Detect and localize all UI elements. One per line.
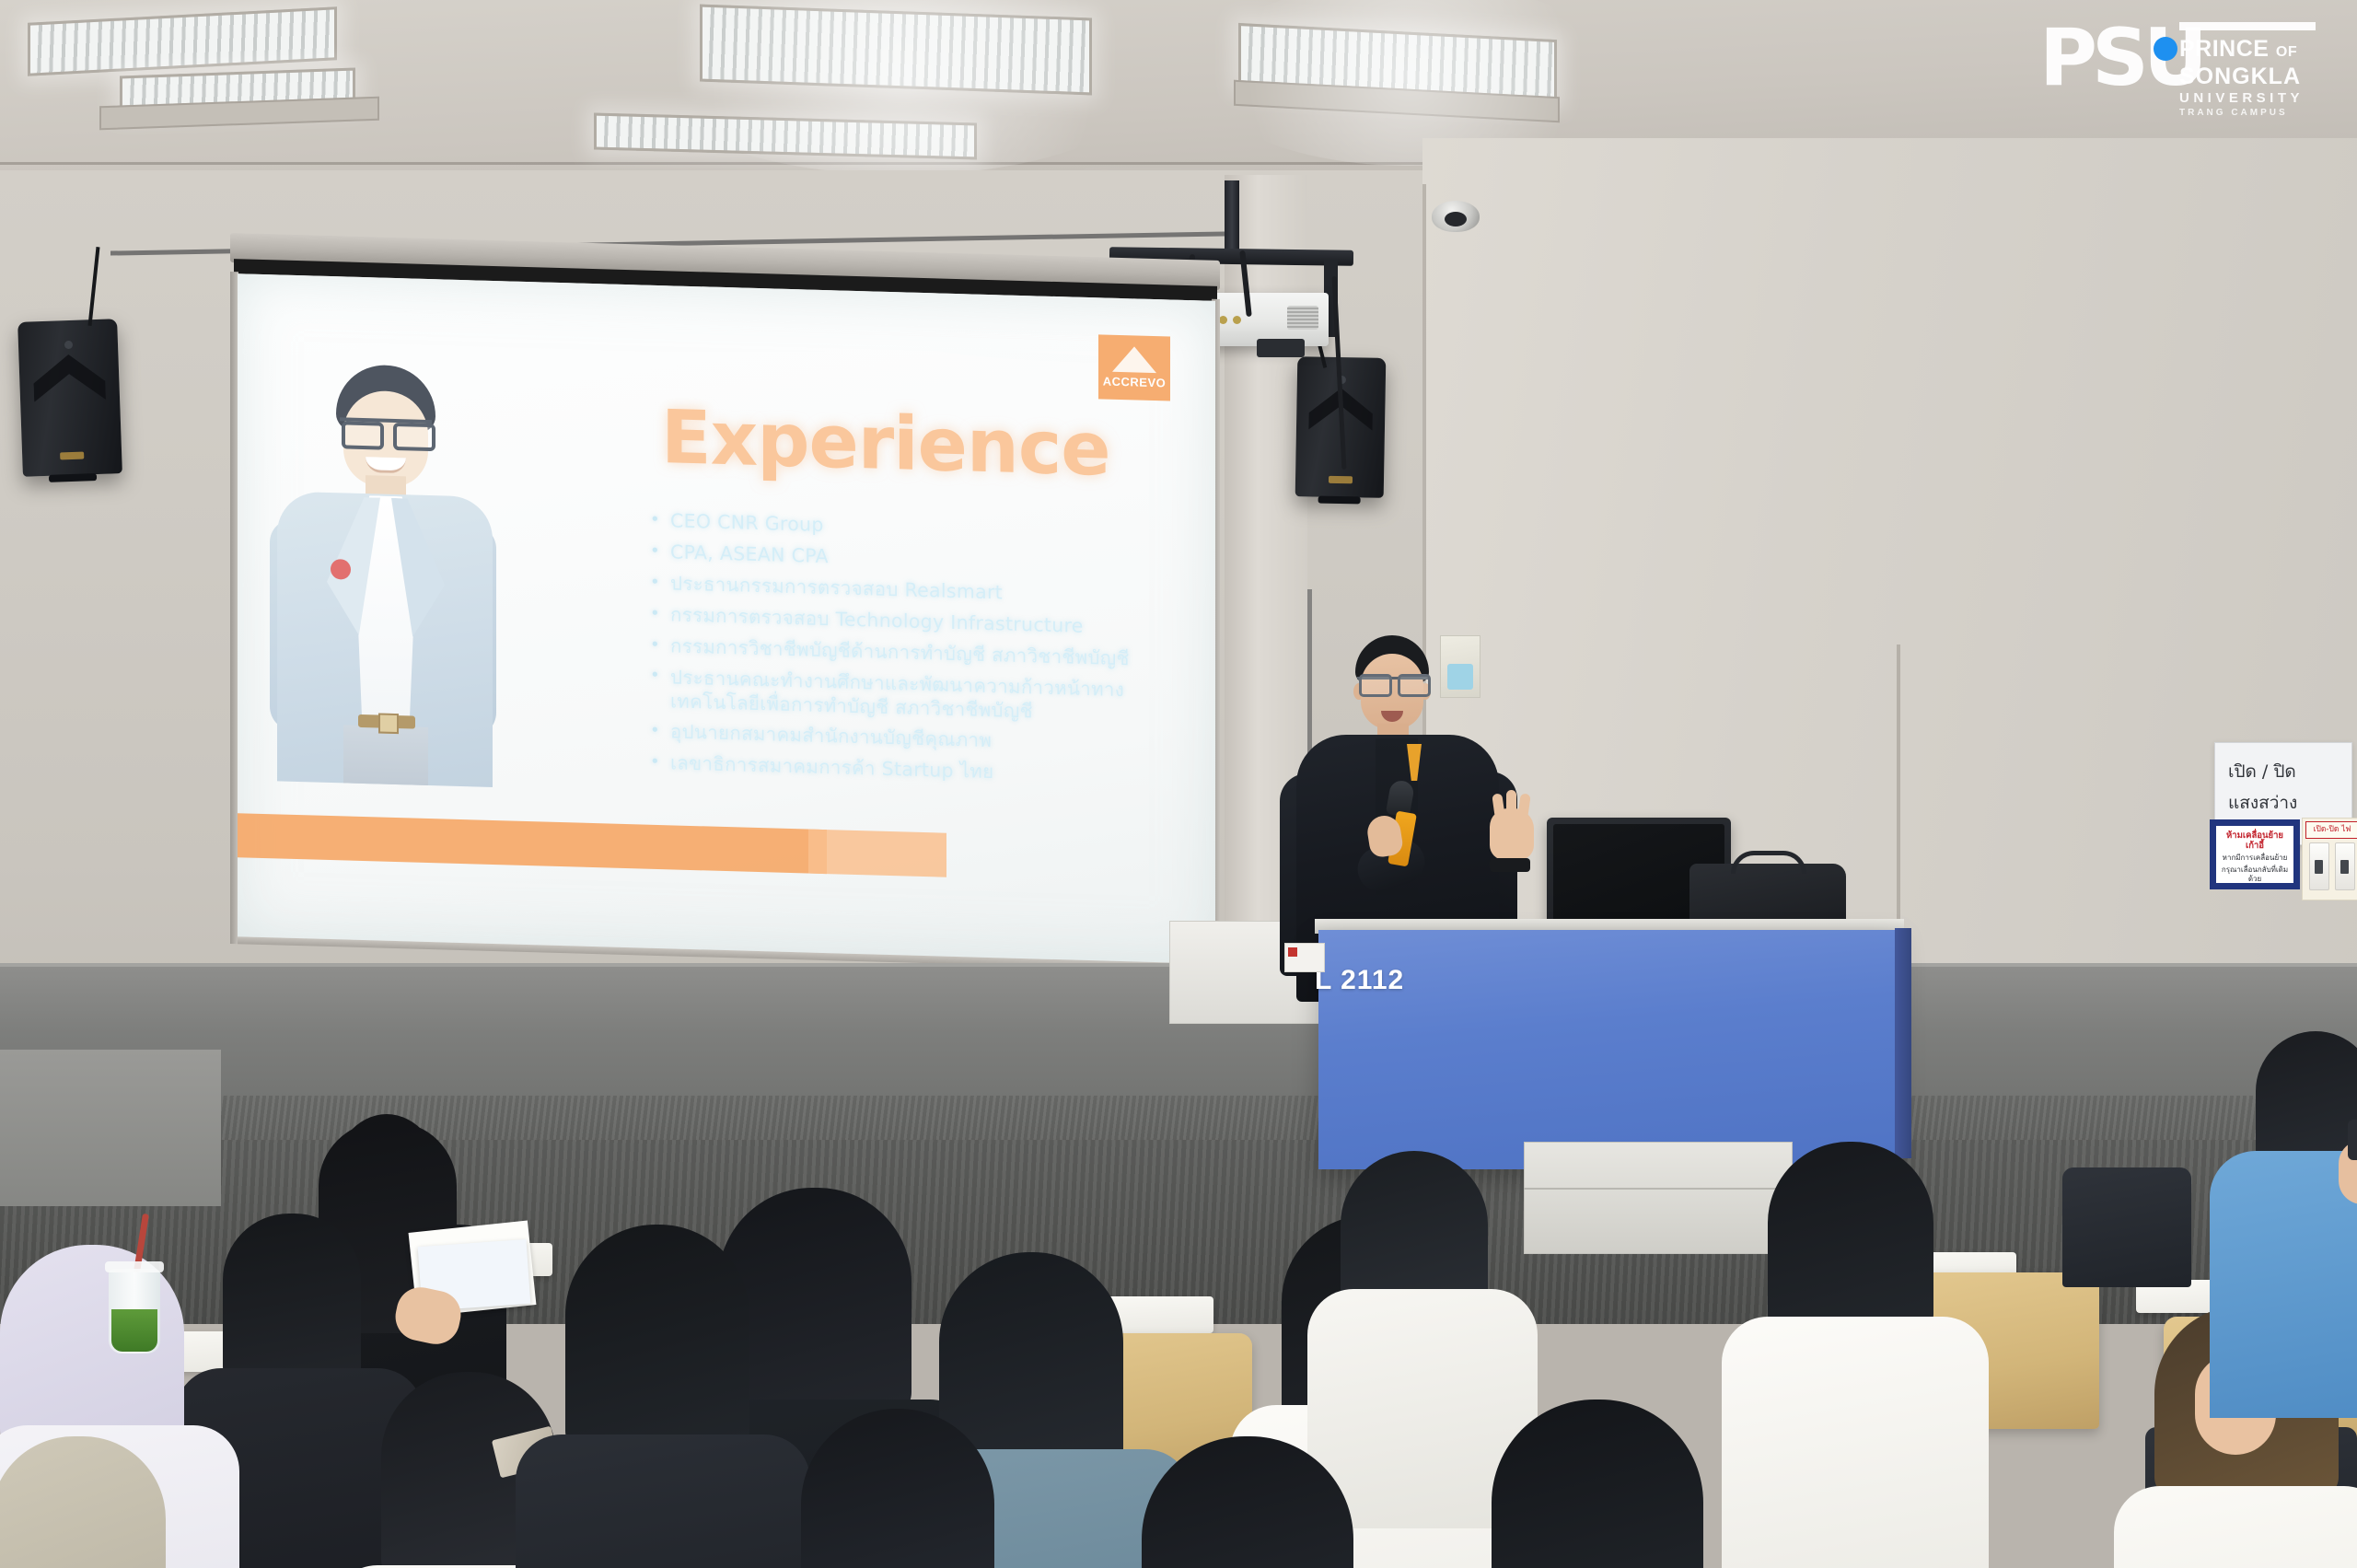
psu-prince: PRINCE [2179, 36, 2269, 62]
drink-lid [105, 1261, 164, 1272]
light-sign-line-1: เปิด / ปิด [2228, 756, 2342, 787]
light-sign-line-2: แสงสว่าง [2228, 787, 2342, 819]
lecture-chair-dark[interactable] [2062, 1167, 2191, 1287]
sign-icon [1288, 947, 1297, 957]
accrevo-logo: ACCREVO [1098, 334, 1170, 401]
slide-bullet-item: ประธานคณะทำงานศึกษาและพัฒนาความก้าวหน้าท… [670, 665, 1204, 727]
psu-watermark: PSU PRINCE OF SONGKLA UNIVERSITY TRANG C… [2039, 17, 2343, 109]
portrait-belt-buckle [378, 713, 399, 734]
ceiling-dome-camera [1432, 201, 1480, 232]
lecture-hall-photo: ACCREVO Experience CEO CNR Group CPA, AS… [0, 0, 2357, 1568]
speaker-badge [1329, 476, 1353, 483]
projector-vent-grille [1287, 306, 1318, 330]
accrevo-logo-mark-icon [1112, 346, 1156, 373]
psu-line-1: PRINCE OF [2179, 37, 2316, 64]
audience-hair [2256, 1031, 2357, 1169]
speaker-tweeter-icon [64, 341, 73, 349]
podium [1318, 930, 1898, 1169]
audience-hair [223, 1214, 361, 1388]
speaker-foot [1318, 496, 1361, 505]
desk-cabinet [1524, 1142, 1793, 1254]
slide-accent-bar [238, 813, 827, 874]
psu-logo-letters: PSU [2039, 18, 2202, 98]
portrait-trousers [343, 725, 428, 785]
projector-port-icon [1219, 316, 1227, 324]
speaker-cone [32, 354, 105, 402]
podium-side-panel [1895, 928, 1911, 1158]
psu-logo-rule [2179, 22, 2316, 30]
projector-lens [1257, 339, 1305, 357]
notice-body-line-2: กรุณาเลื่อนกลับที่เดิมด้วย [2219, 865, 2291, 884]
audience-torso [1722, 1317, 1989, 1568]
portrait-boutonniere [331, 559, 351, 580]
presenter-lens-left [1359, 674, 1392, 697]
psu-logo-mark: PSU [2039, 17, 2168, 101]
portrait-glasses-icon [340, 417, 432, 442]
presenter-finger [1506, 790, 1516, 814]
psu-logo-dot-icon [2154, 37, 2177, 61]
audience-torso [516, 1434, 810, 1568]
portrait-lens-right [393, 423, 435, 451]
projector-mount-pole [1225, 180, 1239, 252]
audience-torso [2114, 1486, 2357, 1568]
notice-body-line-1: หากมีการเคลื่อนย้าย [2219, 854, 2291, 863]
drink-liquid [111, 1309, 157, 1352]
bag-handle [1731, 851, 1806, 874]
psu-line-3: UNIVERSITY [2179, 89, 2316, 107]
slide-speaker-portrait [270, 362, 500, 787]
chair-notice-sign: ห้ามเคลื่อนย้ายเก้าอี้ หากมีการเคลื่อนย้… [2210, 819, 2300, 889]
switch-label: เปิด-ปิด ไฟ [2305, 821, 2357, 839]
speaker-badge [60, 452, 84, 460]
psu-logo-text-block: PRINCE OF SONGKLA UNIVERSITY TRANG CAMPU… [2179, 17, 2316, 120]
slide-accent-bar-secondary [808, 830, 946, 877]
slide-bullet-list: CEO CNR Group CPA, ASEAN CPA ประธานกรรมก… [670, 508, 1204, 796]
projector-port-icon [1233, 316, 1241, 324]
notice-title: ห้ามเคลื่อนย้ายเก้าอี้ [2219, 830, 2291, 851]
presenter-wristwatch [1490, 858, 1530, 872]
accrevo-logo-text: ACCREVO [1103, 374, 1167, 389]
presenter-lens-right [1398, 674, 1431, 697]
audience-hair [1341, 1151, 1488, 1307]
small-sign-on-podium [1284, 943, 1325, 972]
audience-hair [565, 1225, 749, 1455]
light-switch-rocker-2[interactable] [2335, 842, 2355, 890]
portrait-lens-left [342, 421, 384, 449]
audience-hair [1768, 1142, 1933, 1335]
slide-title: Experience [661, 394, 1110, 493]
room-number-label: L 2112 [1315, 965, 1404, 996]
psu-line-2: SONGKLA [2179, 64, 2316, 89]
floor-left [0, 1050, 221, 1206]
psu-of: OF [2276, 44, 2297, 60]
light-switch-rocker-1[interactable] [2309, 842, 2329, 890]
projection-screen-assembly: ACCREVO Experience CEO CNR Group CPA, AS… [230, 233, 1220, 1034]
audience-torso-blue [2210, 1151, 2357, 1418]
wall-speaker-left [17, 319, 122, 477]
projected-slide: ACCREVO Experience CEO CNR Group CPA, AS… [238, 273, 1215, 964]
audience-phone[interactable] [2348, 1120, 2357, 1160]
psu-line-4: TRANG CAMPUS [2179, 107, 2316, 120]
desk-cabinet-seam [1524, 1188, 1791, 1190]
ceiling-light-panel [700, 5, 1092, 96]
